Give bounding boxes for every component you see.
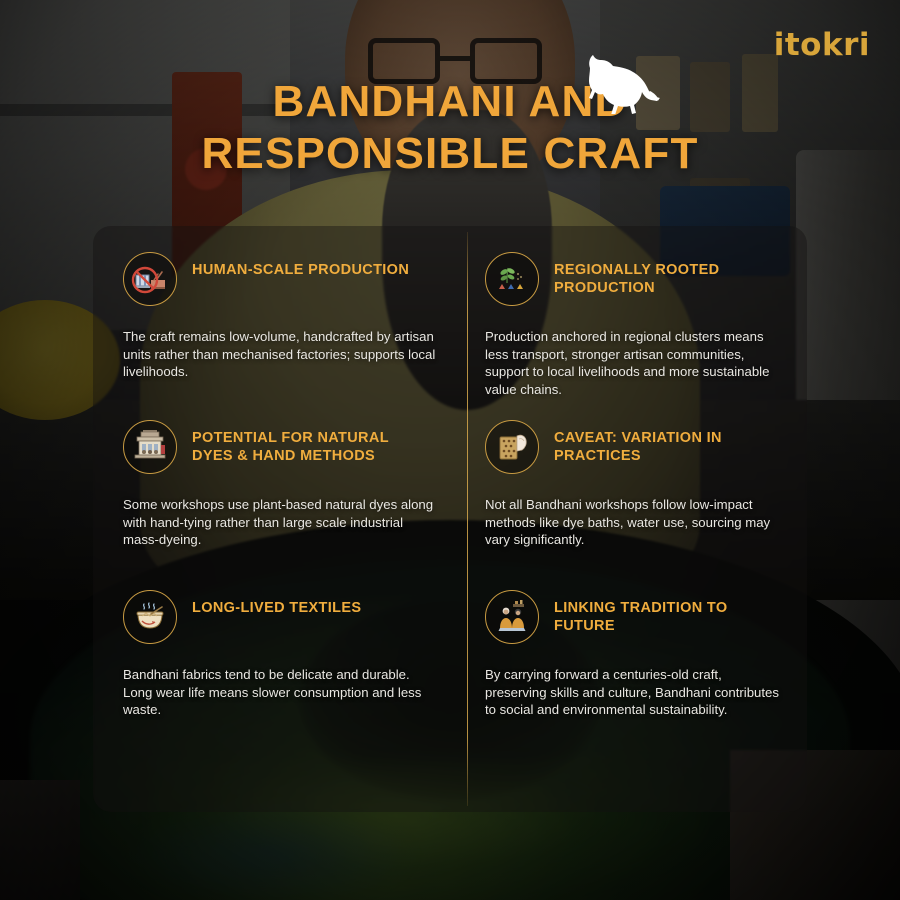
title-line-1: BANDHANI AND bbox=[0, 76, 900, 128]
hand-holding-bandhani-fabric-icon bbox=[485, 420, 539, 474]
page-title: BANDHANI AND RESPONSIBLE CRAFT bbox=[0, 76, 900, 180]
feature-title: HUMAN-SCALE PRODUCTION bbox=[192, 252, 409, 279]
feature-body: The craft remains low-volume, handcrafte… bbox=[123, 328, 439, 381]
feature-item-linking-tradition-future: LINKING TRADITION TO FUTURE By carrying … bbox=[467, 564, 807, 812]
infographic-poster: itokri BANDHANI AND RESPONSIBLE CRAFT bbox=[0, 0, 900, 900]
plant-sprig-dye-mounds-icon bbox=[485, 252, 539, 306]
cow-silhouette-icon bbox=[576, 52, 662, 114]
feature-body: Production anchored in regional clusters… bbox=[485, 328, 785, 398]
feature-title: LONG-LIVED TEXTILES bbox=[192, 590, 361, 617]
feature-body: Not all Bandhani workshops follow low-im… bbox=[485, 496, 785, 549]
feature-item-caveat-variation: CAVEAT: VARIATION IN PRACTICES Not all B… bbox=[467, 394, 807, 564]
feature-title: CAVEAT: VARIATION IN PRACTICES bbox=[554, 420, 769, 466]
feature-title: LINKING TRADITION TO FUTURE bbox=[554, 590, 769, 636]
feature-title: REGIONALLY ROOTED PRODUCTION bbox=[554, 252, 769, 298]
title-line-2: RESPONSIBLE CRAFT bbox=[0, 128, 900, 180]
feature-body: By carrying forward a centuries-old craf… bbox=[485, 666, 785, 719]
feature-item-natural-dyes-hand-methods: POTENTIAL FOR NATURAL DYES & HAND METHOD… bbox=[93, 394, 467, 564]
two-seated-artisans-icon bbox=[485, 590, 539, 644]
feature-body: Some workshops use plant-based natural d… bbox=[123, 496, 439, 549]
no-factory-machine-icon bbox=[123, 252, 177, 306]
feature-item-long-lived-textiles: LONG-LIVED TEXTILES Bandhani fabrics ten… bbox=[93, 564, 467, 812]
feature-title: POTENTIAL FOR NATURAL DYES & HAND METHOD… bbox=[192, 420, 424, 466]
steaming-dye-pot-icon bbox=[123, 590, 177, 644]
itokri-logo: itokri bbox=[774, 30, 870, 61]
content-panel: HUMAN-SCALE PRODUCTION The craft remains… bbox=[93, 226, 807, 812]
feature-item-human-scale-production: HUMAN-SCALE PRODUCTION The craft remains… bbox=[93, 226, 467, 394]
feature-item-regionally-rooted-production: REGIONALLY ROOTED PRODUCTION Production … bbox=[467, 226, 807, 394]
feature-body: Bandhani fabrics tend to be delicate and… bbox=[123, 666, 439, 719]
artisan-workshop-building-icon bbox=[123, 420, 177, 474]
